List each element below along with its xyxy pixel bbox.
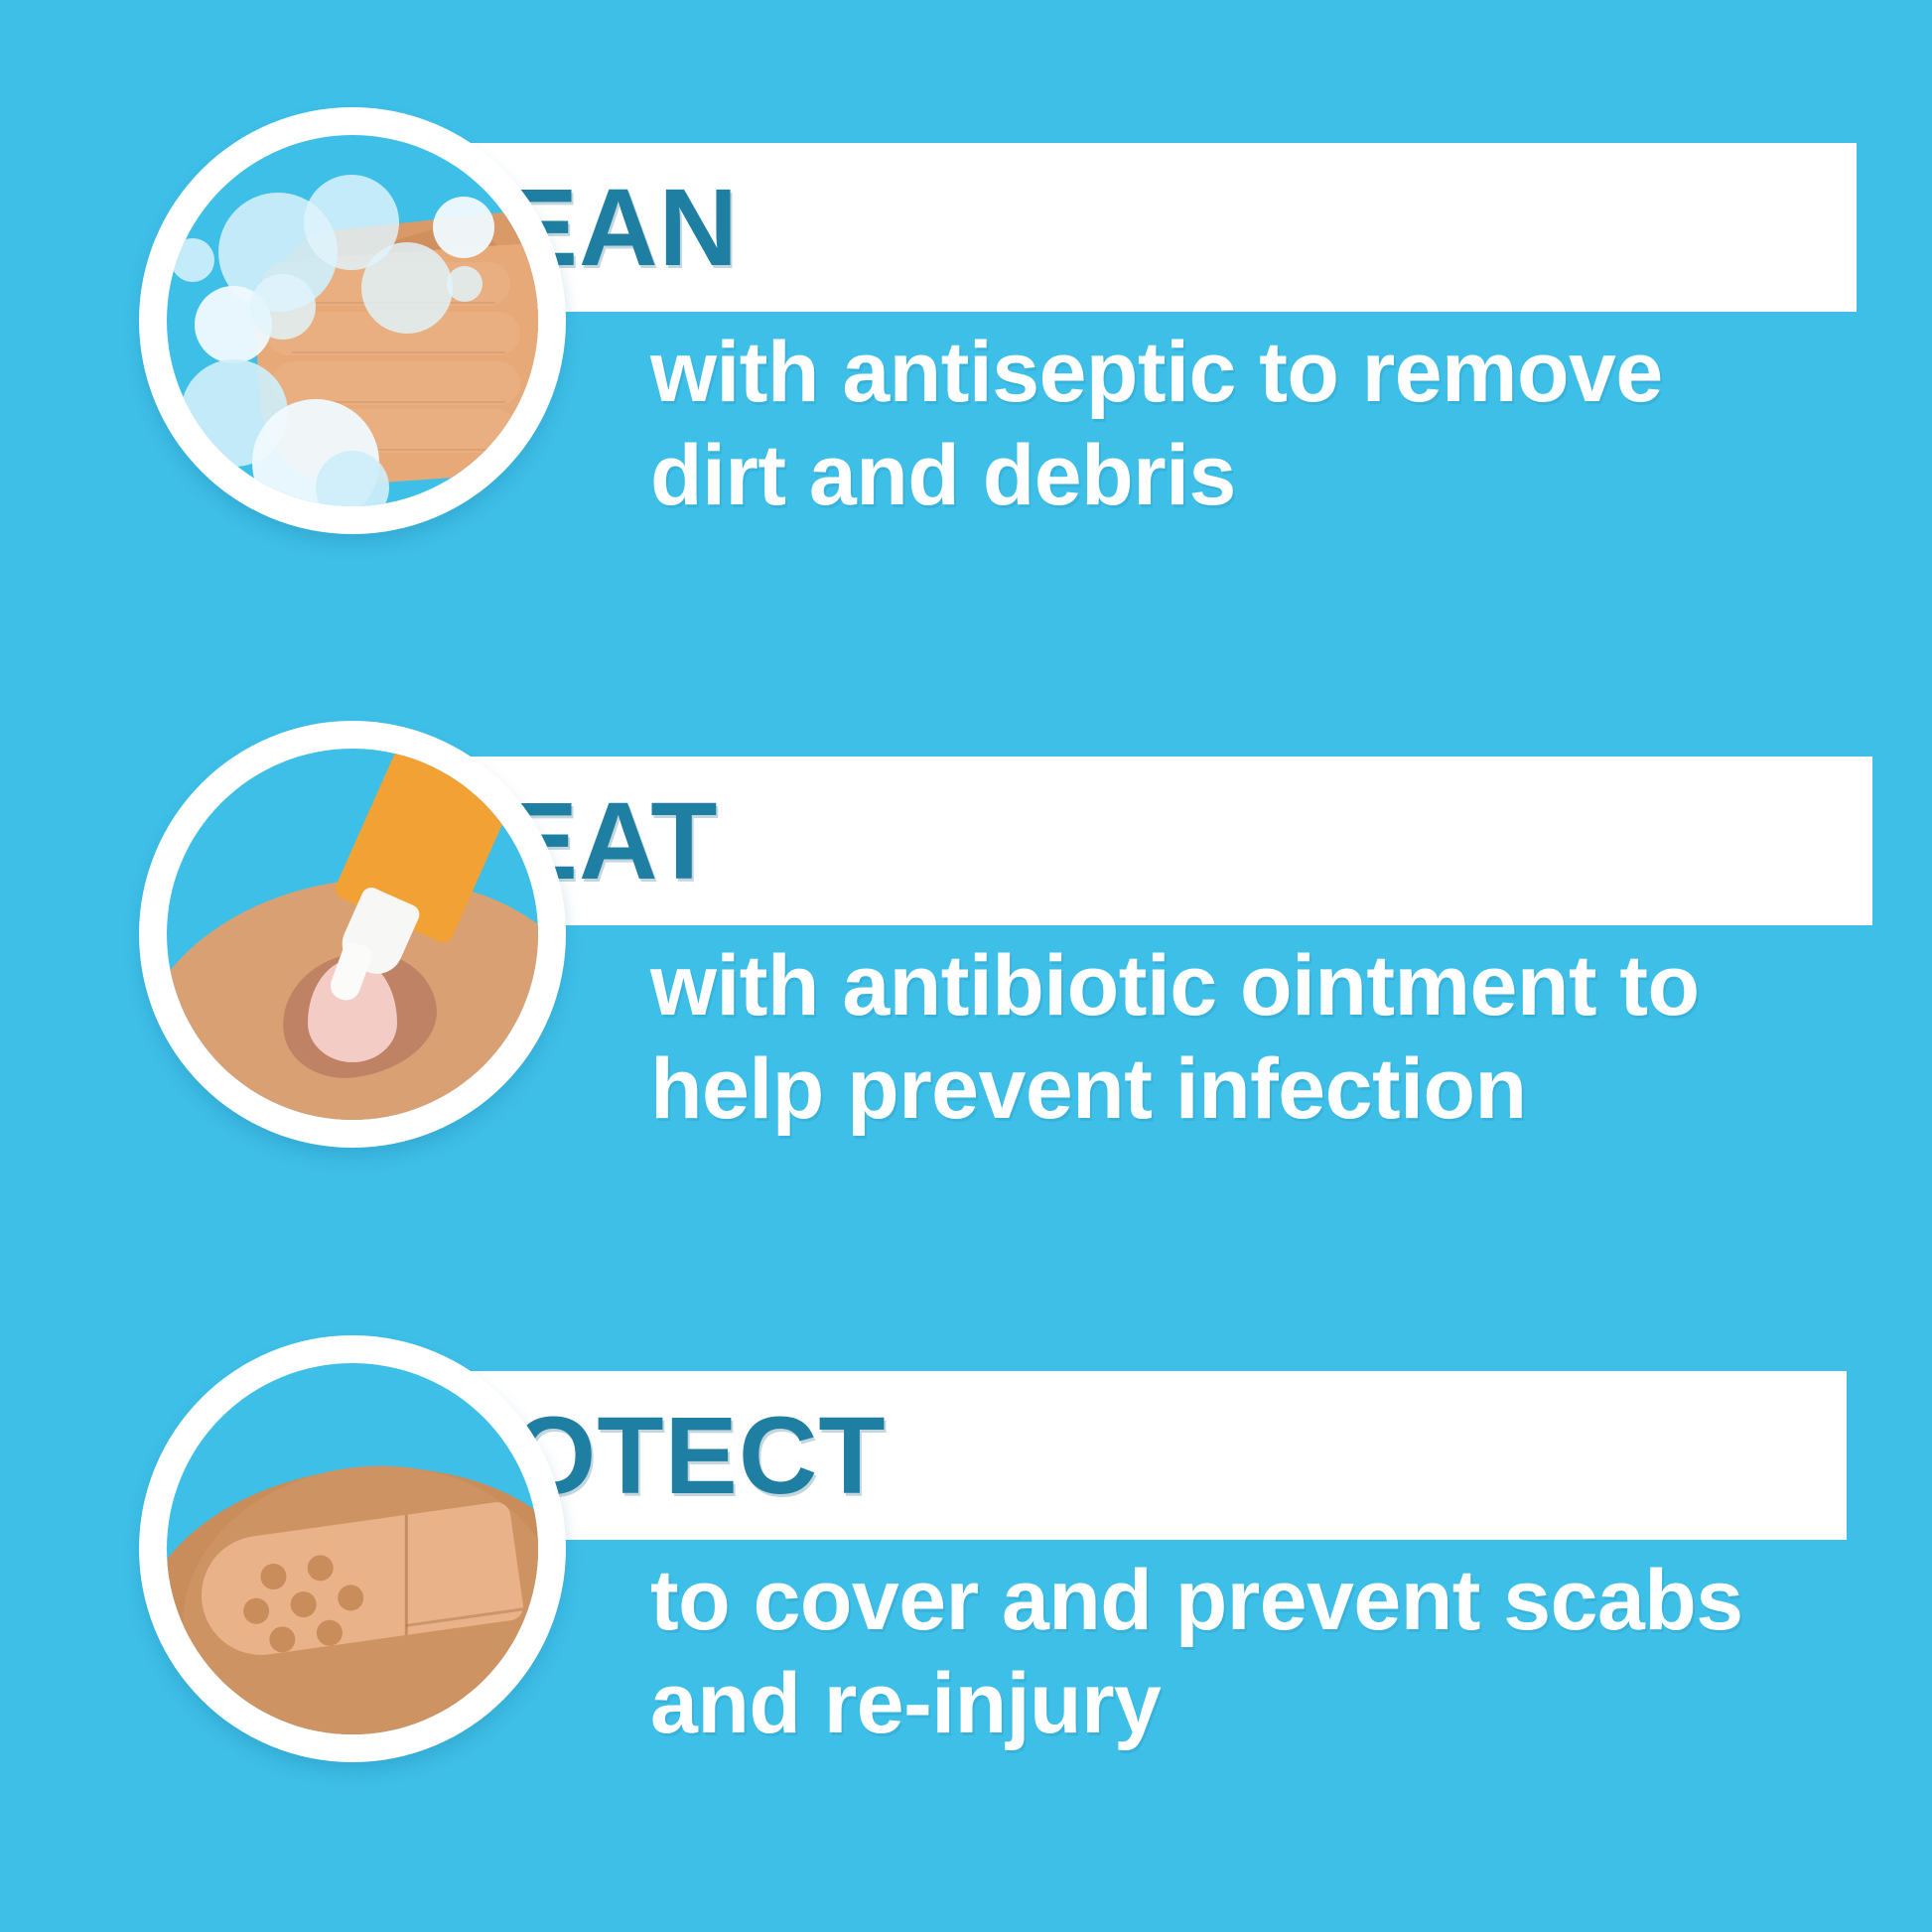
soap-bubble-icon <box>171 238 214 282</box>
hand-washing-icon <box>167 135 538 506</box>
bandage-hole <box>306 1554 335 1583</box>
ointment-tube-icon <box>167 749 538 1120</box>
icon-circle-clean <box>139 107 566 534</box>
step-clean: CLEAN with antiseptic to remove dirt and… <box>0 107 1932 604</box>
icon-circle-protect <box>139 1335 566 1762</box>
bandage-hole <box>241 1596 270 1625</box>
soap-bubble-icon <box>250 274 316 340</box>
body-line-1: to cover and prevent scabs <box>650 1549 1871 1652</box>
step-body-protect: to cover and prevent scabs and re-injury <box>650 1549 1871 1755</box>
step-protect: PROTECT to cover and prevent scabs and r… <box>0 1335 1932 1832</box>
step-body-treat: with antibiotic ointment to help prevent… <box>650 934 1871 1141</box>
body-line-2: and re-injury <box>650 1652 1871 1755</box>
step-treat: TREAT with antibiotic ointment to help p… <box>0 721 1932 1217</box>
bandage-hole <box>259 1562 288 1590</box>
soap-bubble-icon <box>361 242 453 334</box>
bandage-hole <box>315 1618 344 1647</box>
soap-bubble-icon <box>433 197 494 258</box>
bandage-hole <box>289 1589 318 1618</box>
step-body-clean: with antiseptic to remove dirt and debri… <box>650 321 1871 527</box>
icon-circle-treat <box>139 721 566 1148</box>
soap-bubble-icon <box>447 266 483 302</box>
body-line-2: dirt and debris <box>650 424 1871 527</box>
body-line-2: help prevent infection <box>650 1037 1871 1141</box>
body-line-1: with antiseptic to remove <box>650 321 1871 424</box>
bandage-hole <box>268 1625 297 1654</box>
wound-care-infographic: CLEAN with antiseptic to remove dirt and… <box>0 0 1932 1932</box>
body-line-1: with antibiotic ointment to <box>650 934 1871 1037</box>
adhesive-bandage-icon <box>167 1363 538 1734</box>
bandage-hole <box>337 1584 365 1612</box>
